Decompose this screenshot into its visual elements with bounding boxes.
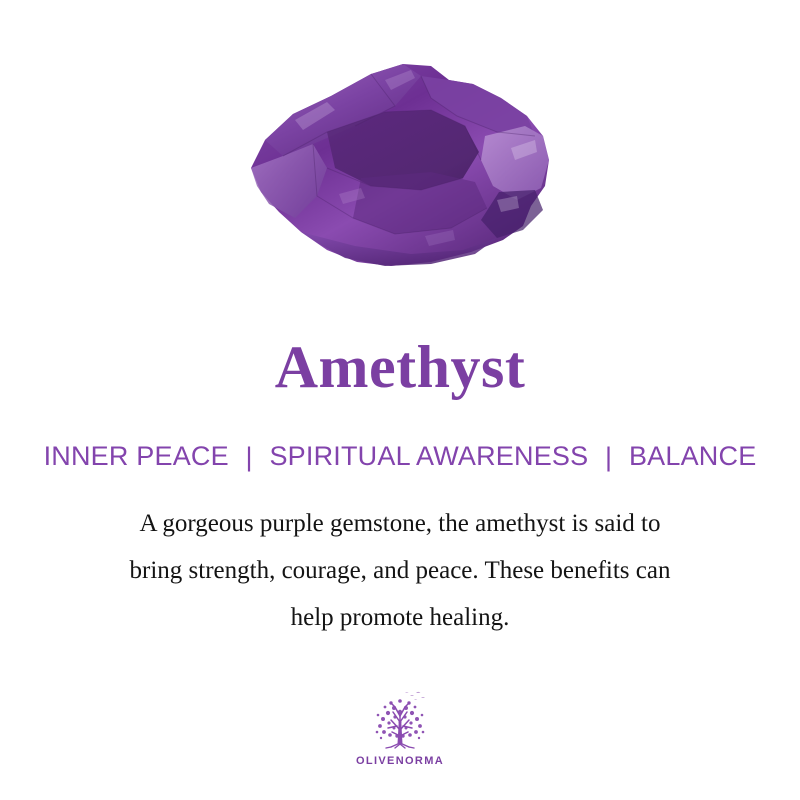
description-line-2: bring strength, courage, and peace. Thes… [0, 547, 800, 594]
tree-of-life-icon [364, 686, 436, 752]
page-title: Amethyst [0, 336, 800, 399]
keyword-inner-peace: INNER PEACE [44, 441, 229, 471]
bird-glyphs [405, 692, 425, 700]
keyword-separator: | [596, 442, 621, 473]
brand-wordmark: OLIVENORMA [356, 755, 444, 767]
amethyst-raw-gemstone-icon [235, 40, 565, 280]
gemstone-image [0, 0, 800, 320]
keyword-line: INNER PEACE | SPIRITUAL AWARENESS | BALA… [0, 441, 800, 472]
description-text: A gorgeous purple gemstone, the amethyst… [0, 500, 800, 641]
amethyst-product-card: Amethyst INNER PEACE | SPIRITUAL AWARENE… [0, 0, 800, 800]
brand-logo: OLIVENORMA [0, 686, 800, 767]
description-line-3: help promote healing. [0, 594, 800, 641]
keyword-spiritual-awareness: SPIRITUAL AWARENESS [269, 441, 588, 471]
description-line-1: A gorgeous purple gemstone, the amethyst… [0, 500, 800, 547]
keyword-separator: | [237, 442, 262, 473]
keyword-balance: BALANCE [629, 441, 756, 471]
